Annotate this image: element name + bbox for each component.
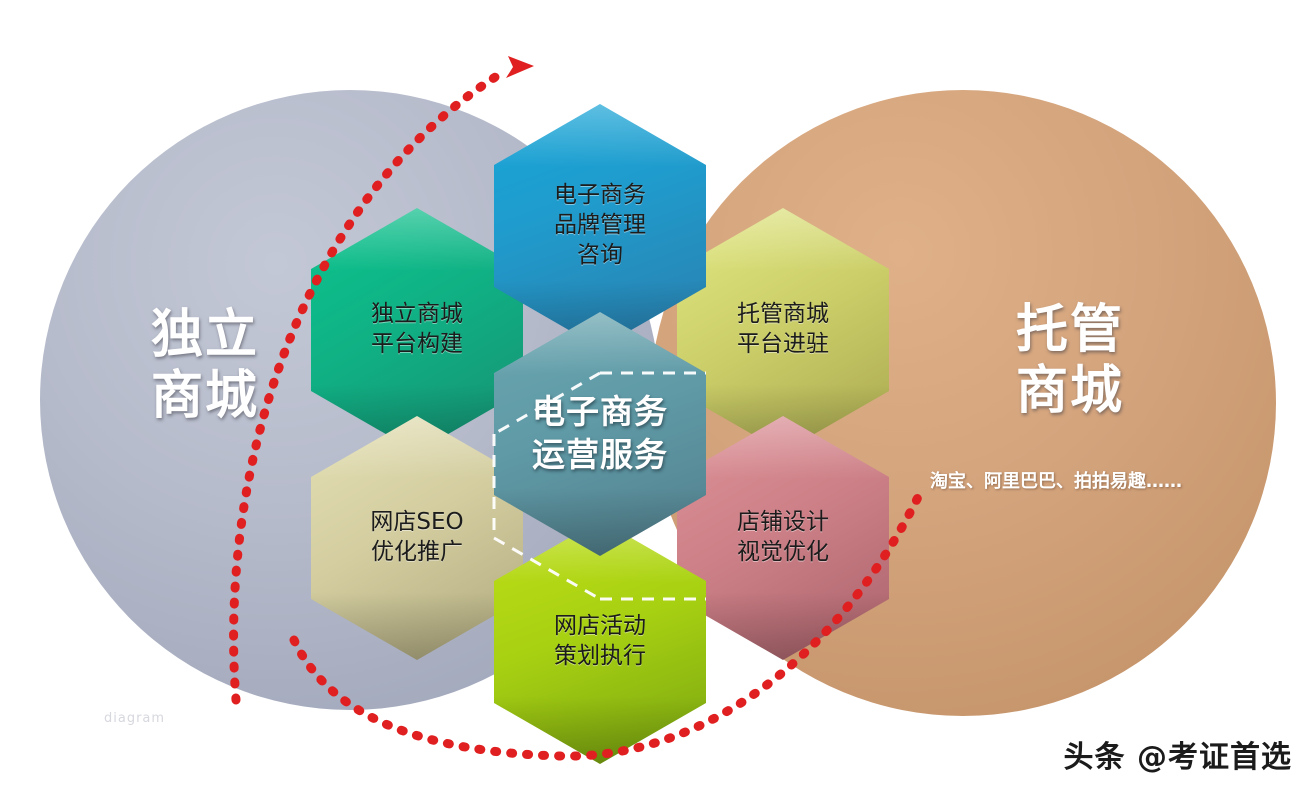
hexagon-lower-right-text: 店铺设计 视觉优化 [729,508,837,568]
hexagon-top-text: 电子商务 品牌管理 咨询 [546,181,654,271]
arrow-head-icon [506,56,534,78]
hex-ur-line1: 托管商城 [737,300,829,330]
hex-ur-line2: 平台进驻 [737,330,829,360]
venn-right-label-line2: 商城 [955,361,1185,422]
venn-right-label: 托管 商城 [955,300,1185,423]
hexagon-bottom-text: 网店活动 策划执行 [546,612,654,672]
venn-left-label-line2: 商城 [90,366,320,427]
faint-watermark: diagram [104,711,165,726]
hex-lr-line1: 店铺设计 [737,508,829,538]
hexagon-lower-left-text: 网店SEO 优化推广 [362,508,471,568]
diagram-canvas: 独立 商城 托管 商城 淘宝、阿里巴巴、拍拍易趣…… 独立商城 平台构建 网店S… [0,0,1316,798]
hex-ll-line2: 优化推广 [370,538,463,568]
hex-tp-line3: 咨询 [554,241,646,271]
hexagon-center-text: 电子商务 运营服务 [524,391,676,477]
venn-right-label-line1: 托管 [955,300,1185,361]
venn-left-label: 独立 商城 [90,305,320,428]
hex-ct-line1: 电子商务 [532,391,668,434]
hexagon-upper-left-text: 独立商城 平台构建 [363,300,471,360]
hex-ct-line2: 运营服务 [532,434,668,477]
hex-ul-line1: 独立商城 [371,300,463,330]
hexagon-upper-right-text: 托管商城 平台进驻 [729,300,837,360]
hex-tp-line2: 品牌管理 [554,211,646,241]
hex-bt-line1: 网店活动 [554,612,646,642]
venn-right-subtitle: 淘宝、阿里巴巴、拍拍易趣…… [930,468,1200,496]
hex-lr-line2: 视觉优化 [737,538,829,568]
hex-ul-line2: 平台构建 [371,330,463,360]
hex-tp-line1: 电子商务 [554,181,646,211]
brand-watermark: 头条 @考证首选 [1064,732,1292,776]
hex-ll-line1: 网店SEO [370,508,463,538]
venn-left-label-line1: 独立 [90,305,320,366]
hex-bt-line2: 策划执行 [554,642,646,672]
